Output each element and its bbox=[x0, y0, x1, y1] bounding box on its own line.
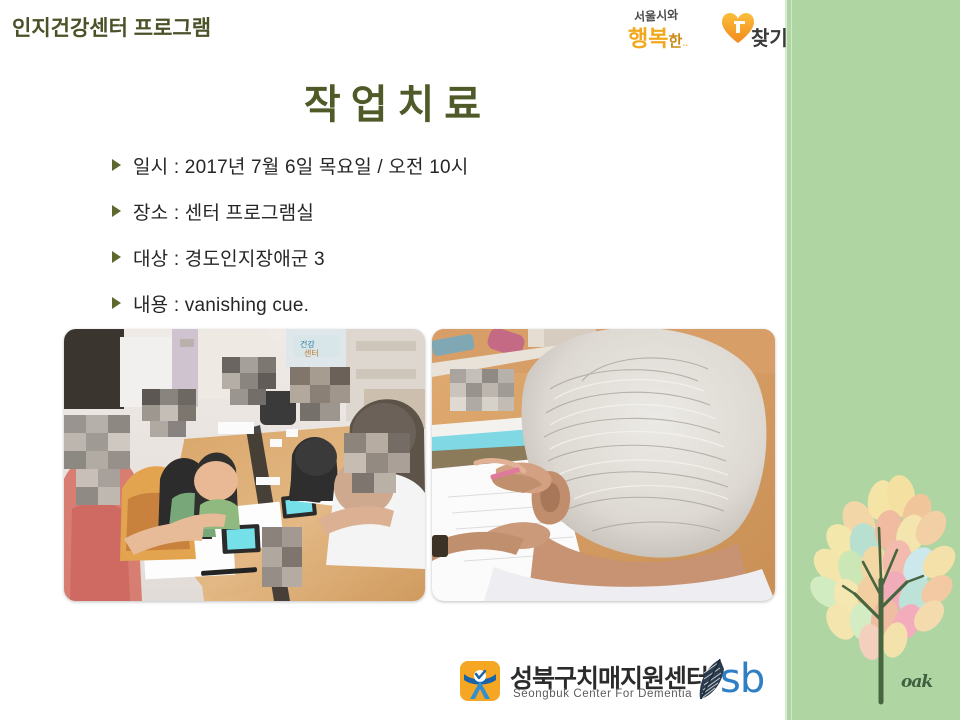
list-item-label: 대상 : 경도인지장애군 3 bbox=[133, 244, 325, 271]
seoul-logo-line3: 찾기 bbox=[751, 22, 788, 51]
seoul-happy-logo: 서울시와 행복한.. 찾기 bbox=[628, 6, 783, 52]
page-title: 작업치료 bbox=[0, 72, 785, 130]
center-name-english: Seongbuk Center For Dementia bbox=[513, 688, 692, 700]
list-item: 장소 : 센터 프로그램실 bbox=[112, 198, 732, 244]
slide-canvas: oak 인지건강센터 프로그램 서울시와 행복한.. 찾기 작업치료 bbox=[0, 0, 960, 720]
heart-icon bbox=[721, 12, 755, 45]
bullet-list: 일시 : 2017년 7월 6일 목요일 / 오전 10시 장소 : 센터 프로… bbox=[112, 152, 732, 336]
list-item: 대상 : 경도인지장애군 3 bbox=[112, 244, 732, 290]
triangle-bullet-icon bbox=[112, 205, 121, 217]
slide-header-label: 인지건강센터 프로그램 bbox=[12, 12, 211, 42]
sb-wordmark: sb bbox=[720, 656, 764, 702]
center-logo-mark-icon bbox=[458, 659, 502, 703]
tree-signature: oak bbox=[901, 672, 932, 692]
list-item-label: 장소 : 센터 프로그램실 bbox=[133, 198, 314, 225]
seoul-logo-han: 한 bbox=[668, 33, 682, 50]
group-activity-photo: 건강 센터 bbox=[64, 329, 425, 601]
decorative-side-panel: oak bbox=[785, 0, 960, 720]
panel-edge-line bbox=[791, 0, 792, 720]
list-item-label: 내용 : vanishing cue. bbox=[133, 290, 309, 317]
list-item-label: 일시 : 2017년 7월 6일 목요일 / 오전 10시 bbox=[133, 152, 468, 179]
list-item: 일시 : 2017년 7월 6일 목요일 / 오전 10시 bbox=[112, 152, 732, 198]
seoul-logo-haengbok: 행복 bbox=[628, 26, 668, 51]
tree-illustration: oak bbox=[797, 430, 960, 710]
svg-text:건강: 건강 bbox=[300, 339, 315, 349]
svg-text:센터: 센터 bbox=[304, 348, 319, 358]
seongbuk-center-logo: 성북구치매지원센터 Seongbuk Center For Dementia s… bbox=[458, 655, 768, 711]
triangle-bullet-icon bbox=[112, 159, 121, 171]
triangle-bullet-icon bbox=[112, 297, 121, 309]
seoul-logo-dots: .. bbox=[682, 38, 688, 49]
seoul-logo-line2: 행복한.. bbox=[628, 21, 688, 53]
closeup-writing-photo bbox=[432, 329, 775, 601]
triangle-bullet-icon bbox=[112, 251, 121, 263]
